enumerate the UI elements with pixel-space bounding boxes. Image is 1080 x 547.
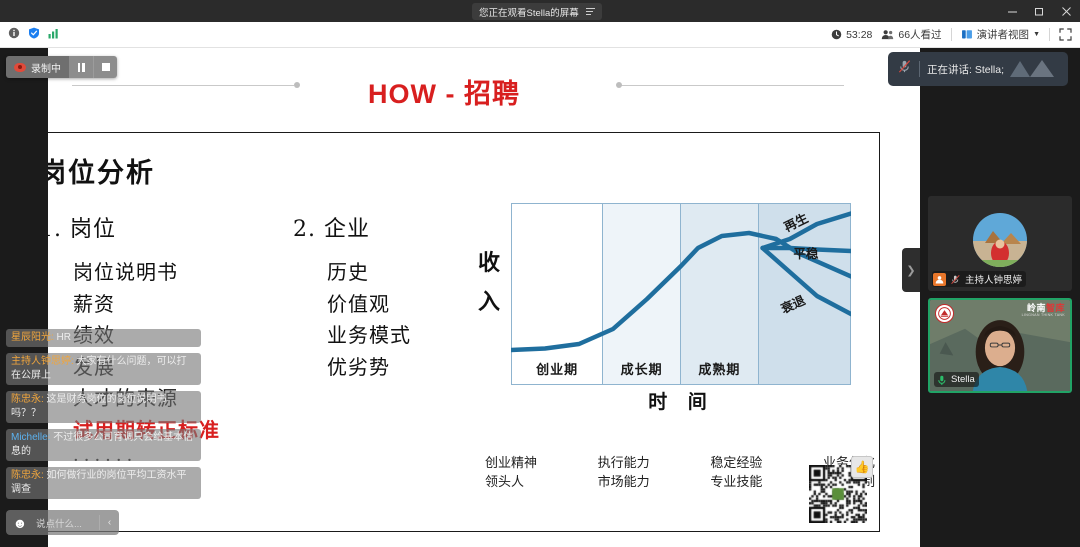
recording-indicator-icon: [14, 63, 26, 72]
slide-column-2: 2. 企业 历史价值观业务模式优劣势: [293, 211, 411, 383]
speaker-view-icon: [961, 29, 973, 40]
viewer-count-label: 66人看过: [898, 27, 941, 42]
more-options-icon[interactable]: [586, 8, 595, 15]
minimize-button[interactable]: [999, 0, 1026, 22]
organization-logo-icon: [935, 304, 954, 323]
audio-wave-icon: [1008, 57, 1062, 84]
chat-sender-name: 主持人钟思婷:: [11, 356, 74, 367]
watermark-highlight: 智库: [1046, 303, 1065, 313]
meeting-timer: 53:28: [831, 29, 872, 41]
toolbar-right-group: 53:28 66人看过 演讲者视图 ▼: [831, 27, 1072, 42]
mic-muted-icon: [897, 59, 912, 79]
title-rule-left: [72, 85, 294, 86]
chat-message: 星辰阳光: HR: [6, 329, 201, 347]
tile-name-label: Stella: [951, 374, 975, 385]
active-speaker-toast: 正在讲话: Stella;: [888, 52, 1068, 86]
recording-status: 录制中: [6, 56, 69, 78]
shared-screen-stage: HOW - 招聘 岗位分析 1. 岗位 岗位说明书薪资绩效发展人才的来源试用期转…: [0, 48, 1080, 547]
chat-message-list: 星辰阳光: HR主持人钟思婷: 大家有什么问题，可以打在公屏上陈忠永: 这是财务…: [6, 329, 201, 499]
view-mode-selector[interactable]: 演讲者视图 ▼: [961, 27, 1040, 42]
column-1-heading: 1. 岗位: [39, 211, 220, 243]
stop-recording-button[interactable]: [93, 56, 117, 78]
chevron-down-icon[interactable]: ▼: [1033, 31, 1040, 38]
page-title: HOW - 招聘: [0, 72, 888, 111]
host-badge-icon: [933, 273, 946, 286]
list-item: 价值观: [327, 289, 411, 321]
lifecycle-chart: 收入 创业期成长期成熟期 再生平稳衰退 时 间: [467, 203, 867, 443]
toolbar-divider-2: [1049, 28, 1050, 41]
close-button[interactable]: [1053, 0, 1080, 22]
chat-sender-name: Michelle:: [11, 432, 50, 443]
chat-message: 主持人钟思婷: 大家有什么问题，可以打在公屏上: [6, 353, 201, 385]
tile-name-badge: Stella: [934, 372, 979, 387]
emoji-icon[interactable]: ☻: [6, 515, 34, 531]
shield-icon[interactable]: [28, 26, 40, 44]
info-icon[interactable]: [8, 26, 20, 44]
active-speaker-label: 正在讲话: Stella;: [927, 62, 1004, 77]
video-tile-host[interactable]: 主持人钟思婷: [928, 196, 1072, 291]
pause-recording-button[interactable]: [69, 56, 93, 78]
mic-muted-icon: [949, 273, 962, 286]
list-item: 岗位说明书: [73, 257, 220, 289]
restore-button[interactable]: [1026, 0, 1053, 22]
column-2-list: 历史价值观业务模式优劣势: [293, 257, 411, 383]
skill-line: 创业精神: [485, 455, 537, 474]
screenshare-notice-pill[interactable]: 您正在观看Stella的屏幕: [472, 3, 602, 20]
chat-message: Michelle: 不过很多公司育调只会给基本信息的: [6, 429, 201, 461]
video-rail-toggle[interactable]: ❯: [902, 248, 920, 292]
watermark-sub-text: LINGNAN THINK TANK: [1022, 314, 1065, 318]
recording-widget: 录制中: [6, 56, 117, 78]
fullscreen-icon: [1059, 28, 1072, 41]
recording-status-label: 录制中: [31, 60, 61, 75]
chat-input[interactable]: 说点什么...: [34, 516, 99, 530]
chat-message-text: HR: [54, 332, 71, 343]
tile-name-badge: 主持人钟思婷: [932, 271, 1026, 287]
avatar: [973, 213, 1027, 267]
video-tile-speaker[interactable]: 岭南智库 LINGNAN THINK TANK Stella: [928, 298, 1072, 393]
qr-code-block: 👍: [809, 465, 869, 525]
view-mode-label: 演讲者视图: [977, 27, 1030, 42]
slide-heading: 岗位分析: [39, 151, 155, 190]
chat-message: 陈忠永: 这是财务岗位的岗位说明书吗？？: [6, 391, 201, 423]
chat-message: 陈忠永: 如何做行业的岗位平均工资水平调查: [6, 467, 201, 499]
thumbs-up-icon: 👍: [851, 456, 873, 478]
title-dot-right: [616, 82, 622, 88]
meeting-window: 您正在观看Stella的屏幕: [0, 0, 1080, 547]
toast-divider: [919, 61, 920, 77]
chart-x-axis-label: 时 间: [511, 387, 851, 414]
watermark-main-text: 岭南智库: [1022, 304, 1065, 313]
chat-input-bar[interactable]: ☻ 说点什么... ‹: [6, 510, 119, 535]
video-rail: ❯: [920, 48, 1080, 547]
list-item: 薪资: [73, 289, 220, 321]
list-item: 业务模式: [327, 320, 411, 352]
tile-name-label: 主持人钟思婷: [965, 272, 1022, 286]
skill-group: 创业精神领头人: [485, 455, 537, 493]
skill-group: 执行能力市场能力: [598, 455, 650, 493]
skill-line: 执行能力: [598, 455, 650, 474]
skill-line: 专业技能: [710, 474, 762, 493]
clock-icon: [831, 29, 842, 40]
title-bar: 您正在观看Stella的屏幕: [0, 0, 1080, 22]
toolbar-left-group: [8, 26, 61, 44]
title-rule-right: [620, 85, 844, 86]
chart-branch-label: 平稳: [793, 243, 818, 262]
chat-sender-name: 陈忠永:: [11, 470, 44, 481]
toolbar-divider-1: [951, 28, 952, 41]
mic-on-icon: [935, 373, 948, 386]
stop-icon: [102, 63, 110, 71]
screenshare-notice-label: 您正在观看Stella的屏幕: [479, 5, 579, 19]
list-item: 优劣势: [327, 352, 411, 384]
viewer-count[interactable]: 66人看过: [881, 27, 941, 42]
list-item: 历史: [327, 257, 411, 289]
chat-sender-name: 陈忠永:: [11, 394, 44, 405]
title-dot-left: [294, 82, 300, 88]
people-icon: [881, 29, 894, 40]
skill-group: 稳定经验专业技能: [710, 455, 762, 493]
chat-collapse-icon[interactable]: ‹: [99, 515, 119, 530]
network-signal-icon[interactable]: [48, 26, 61, 44]
chart-y-axis-label: 收入: [475, 245, 503, 322]
skill-line: 市场能力: [598, 474, 650, 493]
skill-line: 领头人: [485, 474, 537, 493]
chat-sender-name: 星辰阳光:: [11, 332, 54, 343]
meeting-toolbar: 53:28 66人看过 演讲者视图 ▼: [0, 22, 1080, 48]
tile-watermark: 岭南智库 LINGNAN THINK TANK: [1022, 304, 1065, 318]
pause-icon: [78, 63, 85, 72]
column-2-heading: 2. 企业: [293, 211, 411, 243]
fullscreen-button[interactable]: [1059, 28, 1072, 41]
skill-line: 稳定经验: [710, 455, 762, 474]
meeting-timer-value: 53:28: [846, 29, 872, 41]
window-controls: [999, 0, 1080, 22]
